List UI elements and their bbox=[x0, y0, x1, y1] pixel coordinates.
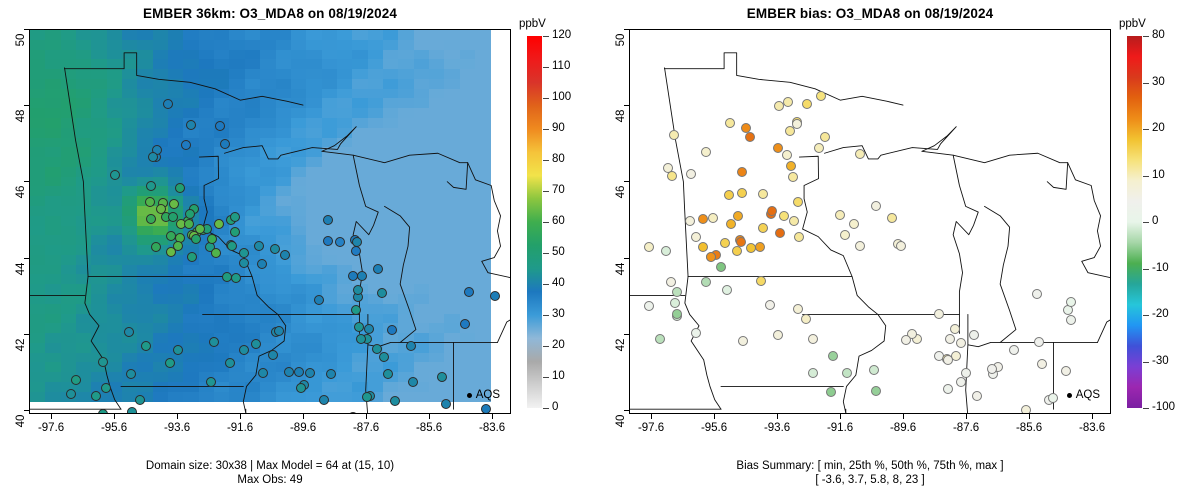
station-marker bbox=[441, 399, 451, 409]
station-marker bbox=[377, 288, 387, 298]
station-marker bbox=[326, 369, 336, 379]
station-marker bbox=[820, 132, 830, 142]
station-marker bbox=[230, 227, 240, 237]
station-marker bbox=[268, 350, 278, 360]
station-marker bbox=[296, 383, 306, 393]
bias-colorbar: ppbV -100-30-20-10010203080 bbox=[1127, 36, 1187, 408]
y-tick-label: 46 bbox=[15, 180, 27, 204]
colorbar-tick-label: 30 bbox=[552, 308, 565, 320]
station-marker bbox=[490, 291, 500, 301]
colorbar-tick-label: 80 bbox=[552, 153, 565, 165]
colorbar-tick-label: 10 bbox=[1152, 169, 1165, 181]
station-marker bbox=[169, 199, 179, 209]
station-marker bbox=[644, 301, 654, 311]
station-marker bbox=[239, 248, 249, 258]
y-tick-label: 48 bbox=[15, 104, 27, 128]
station-marker bbox=[209, 337, 219, 347]
station-marker bbox=[191, 234, 201, 244]
station-marker bbox=[323, 236, 333, 246]
station-marker bbox=[166, 231, 176, 241]
station-marker bbox=[802, 99, 812, 109]
bias-y-axis: 404244464850 bbox=[600, 29, 629, 414]
station-marker bbox=[672, 287, 682, 297]
bias-panel: EMBER bias: O3_MDA8 on 08/19/2024 AQS -9… bbox=[600, 0, 1200, 502]
station-marker bbox=[951, 351, 961, 361]
colorbar-tick-label: 70 bbox=[552, 184, 565, 196]
y-tick-label: 44 bbox=[15, 257, 27, 281]
y-tick-label: 42 bbox=[15, 333, 27, 357]
station-marker bbox=[163, 99, 173, 109]
colorbar-tick-label: 0 bbox=[552, 401, 558, 413]
colorbar-tick bbox=[1143, 269, 1149, 270]
colorbar-tick-label: 120 bbox=[552, 29, 571, 41]
colorbar-tick bbox=[543, 315, 549, 316]
station-marker bbox=[323, 215, 333, 225]
model-colorbar: ppbV 0102030405060708090100110120 bbox=[527, 36, 587, 408]
model-caption-line1: Domain size: 30x38 | Max Model = 64 at (… bbox=[0, 459, 540, 473]
y-tick-label: 50 bbox=[15, 28, 27, 52]
colorbar-tick bbox=[543, 98, 549, 99]
x-tick-label: -89.6 bbox=[277, 422, 329, 434]
model-x-axis: -97.6-95.6-93.6-91.6-89.6-87.6-85.6-83.6 bbox=[29, 414, 511, 444]
colorbar-tick-label: 40 bbox=[552, 277, 565, 289]
x-tick-label: -91.6 bbox=[214, 422, 266, 434]
station-marker bbox=[207, 234, 217, 244]
y-tick-label: 40 bbox=[15, 409, 27, 433]
station-marker bbox=[733, 211, 743, 221]
station-marker bbox=[666, 277, 676, 287]
station-marker bbox=[227, 241, 237, 251]
station-marker bbox=[736, 237, 746, 247]
x-tick-mark bbox=[1092, 414, 1093, 419]
station-marker bbox=[254, 241, 264, 251]
model-aqs-legend-label: AQS bbox=[476, 389, 500, 401]
station-marker bbox=[701, 277, 711, 287]
station-marker bbox=[71, 375, 81, 385]
station-marker bbox=[270, 244, 280, 254]
x-tick-label: -97.6 bbox=[625, 422, 677, 434]
station-marker bbox=[110, 170, 120, 180]
x-tick-label: -93.6 bbox=[751, 422, 803, 434]
station-marker bbox=[745, 132, 755, 142]
colorbar-tick-label: 30 bbox=[1152, 76, 1165, 88]
station-marker bbox=[148, 152, 158, 162]
x-tick-mark bbox=[840, 414, 841, 419]
station-marker bbox=[1021, 405, 1031, 414]
station-marker bbox=[215, 121, 225, 131]
station-marker bbox=[720, 238, 730, 248]
colorbar-tick bbox=[543, 36, 549, 37]
station-marker bbox=[767, 206, 777, 216]
x-tick-mark bbox=[903, 414, 904, 419]
y-tick-label: 50 bbox=[615, 28, 627, 52]
aqs-dot-icon bbox=[467, 393, 472, 398]
x-tick-label: -87.6 bbox=[940, 422, 992, 434]
station-marker bbox=[222, 272, 232, 282]
colorbar-tick bbox=[1143, 129, 1149, 130]
station-marker bbox=[387, 325, 397, 335]
x-tick-mark bbox=[366, 414, 367, 419]
station-marker bbox=[185, 209, 195, 219]
x-tick-label: -95.6 bbox=[88, 422, 140, 434]
station-marker bbox=[206, 377, 216, 387]
station-marker bbox=[691, 328, 701, 338]
y-tick-label: 44 bbox=[615, 257, 627, 281]
colorbar-tick bbox=[1143, 315, 1149, 316]
model-y-axis: 404244464850 bbox=[0, 29, 29, 414]
station-marker bbox=[257, 259, 267, 269]
model-panel-title: EMBER 36km: O3_MDA8 on 08/19/2024 bbox=[0, 6, 540, 21]
bias-plot-area: AQS bbox=[629, 29, 1111, 414]
x-tick-mark bbox=[966, 414, 967, 419]
station-marker bbox=[972, 391, 982, 401]
x-tick-mark bbox=[114, 414, 115, 419]
station-marker bbox=[722, 285, 732, 295]
x-tick-label: -83.6 bbox=[1066, 422, 1118, 434]
station-marker bbox=[737, 167, 747, 177]
station-marker bbox=[661, 246, 671, 256]
station-marker bbox=[887, 213, 897, 223]
colorbar-tick-label: 110 bbox=[552, 60, 570, 72]
station-marker bbox=[816, 91, 826, 101]
station-marker bbox=[698, 214, 708, 224]
model-colorbar-unit: ppbV bbox=[519, 18, 546, 30]
station-marker bbox=[66, 389, 76, 399]
station-marker bbox=[239, 258, 249, 268]
station-marker bbox=[793, 304, 803, 314]
x-tick-mark bbox=[492, 414, 493, 419]
colorbar-tick-label: 60 bbox=[552, 215, 565, 227]
station-marker bbox=[786, 161, 796, 171]
aqs-dot-icon bbox=[1067, 393, 1072, 398]
colorbar-tick bbox=[543, 377, 549, 378]
colorbar-tick bbox=[543, 284, 549, 285]
station-marker bbox=[481, 404, 491, 414]
bias-panel-title: EMBER bias: O3_MDA8 on 08/19/2024 bbox=[600, 6, 1140, 21]
x-tick-mark bbox=[651, 414, 652, 419]
station-marker bbox=[258, 368, 268, 378]
station-marker bbox=[701, 147, 711, 157]
station-marker bbox=[943, 384, 953, 394]
station-marker bbox=[808, 368, 818, 378]
station-marker bbox=[1032, 289, 1042, 299]
station-marker bbox=[775, 228, 785, 238]
colorbar-tick bbox=[543, 222, 549, 223]
colorbar-tick bbox=[1143, 83, 1149, 84]
station-marker bbox=[348, 271, 358, 281]
station-marker bbox=[98, 357, 108, 367]
colorbar-tick bbox=[1143, 362, 1149, 363]
station-marker bbox=[1037, 359, 1047, 369]
x-tick-mark bbox=[1029, 414, 1030, 419]
station-marker bbox=[691, 232, 701, 242]
station-marker bbox=[354, 322, 364, 332]
station-marker bbox=[305, 368, 315, 378]
station-marker bbox=[956, 377, 966, 387]
station-marker bbox=[706, 252, 716, 262]
colorbar-tick-label: 90 bbox=[552, 122, 565, 134]
x-tick-label: -95.6 bbox=[688, 422, 740, 434]
colorbar-tick bbox=[1143, 36, 1149, 37]
station-marker bbox=[186, 120, 196, 130]
station-marker bbox=[738, 336, 748, 346]
colorbar-tick-label: 10 bbox=[552, 370, 565, 382]
x-tick-mark bbox=[177, 414, 178, 419]
colorbar-tick-label: -20 bbox=[1152, 308, 1169, 320]
station-marker bbox=[274, 326, 284, 336]
x-tick-mark bbox=[429, 414, 430, 419]
station-marker bbox=[352, 237, 362, 247]
station-marker bbox=[1066, 315, 1076, 325]
station-marker bbox=[351, 305, 361, 315]
station-marker bbox=[655, 334, 665, 344]
y-tick-label: 48 bbox=[615, 104, 627, 128]
station-marker bbox=[956, 338, 966, 348]
station-marker bbox=[408, 377, 418, 387]
colorbar-tick-label: -30 bbox=[1152, 355, 1169, 367]
station-marker bbox=[792, 119, 802, 129]
colorbar-tick-label: -100 bbox=[1152, 401, 1175, 413]
colorbar-tick bbox=[543, 67, 549, 68]
colorbar-tick bbox=[543, 408, 549, 409]
station-marker bbox=[127, 407, 137, 414]
x-tick-mark bbox=[240, 414, 241, 419]
station-marker bbox=[788, 172, 798, 182]
model-colorbar-gradient bbox=[527, 36, 542, 408]
x-tick-label: -91.6 bbox=[814, 422, 866, 434]
station-marker bbox=[353, 285, 363, 295]
station-marker bbox=[357, 271, 367, 281]
x-tick-mark bbox=[714, 414, 715, 419]
station-marker bbox=[230, 212, 240, 222]
colorbar-tick-label: 20 bbox=[1152, 122, 1165, 134]
y-tick-label: 42 bbox=[615, 333, 627, 357]
bias-aqs-legend-label: AQS bbox=[1076, 389, 1100, 401]
station-marker bbox=[756, 276, 766, 286]
station-marker bbox=[934, 309, 944, 319]
station-marker bbox=[801, 314, 811, 324]
station-marker bbox=[855, 149, 865, 159]
station-marker bbox=[943, 355, 953, 365]
model-caption-line2: Max Obs: 49 bbox=[0, 473, 540, 487]
colorbar-tick-label: 80 bbox=[1152, 29, 1165, 41]
colorbar-tick-label: 50 bbox=[552, 246, 565, 258]
station-marker bbox=[362, 392, 372, 402]
colorbar-tick bbox=[543, 129, 549, 130]
station-marker bbox=[124, 327, 134, 337]
station-marker bbox=[672, 309, 682, 319]
colorbar-tick bbox=[1143, 222, 1149, 223]
station-marker bbox=[284, 367, 294, 377]
x-tick-mark bbox=[777, 414, 778, 419]
station-marker bbox=[251, 339, 261, 349]
bias-caption-line2: [ -3.6, 3.7, 5.8, 8, 23 ] bbox=[600, 473, 1140, 487]
colorbar-tick-label: 0 bbox=[1152, 215, 1158, 227]
x-tick-label: -85.6 bbox=[403, 422, 455, 434]
station-marker bbox=[356, 334, 366, 344]
station-marker bbox=[961, 368, 971, 378]
station-marker bbox=[685, 216, 695, 226]
x-tick-label: -83.6 bbox=[466, 422, 518, 434]
station-marker bbox=[166, 247, 176, 257]
model-aqs-legend: AQS bbox=[467, 389, 500, 401]
station-marker bbox=[782, 150, 792, 160]
station-marker bbox=[808, 334, 818, 344]
colorbar-tick bbox=[543, 346, 549, 347]
station-marker bbox=[184, 219, 194, 229]
station-marker bbox=[755, 242, 765, 252]
station-marker bbox=[828, 351, 838, 361]
colorbar-tick-label: 100 bbox=[552, 91, 571, 103]
station-marker bbox=[1066, 297, 1076, 307]
station-marker bbox=[464, 287, 474, 297]
y-tick-label: 40 bbox=[615, 409, 627, 433]
x-tick-label: -87.6 bbox=[340, 422, 392, 434]
x-tick-label: -93.6 bbox=[151, 422, 203, 434]
station-marker bbox=[460, 319, 470, 329]
bias-colorbar-gradient bbox=[1127, 36, 1142, 408]
station-marker bbox=[101, 383, 111, 393]
colorbar-tick-label: 20 bbox=[552, 339, 565, 351]
bias-caption-line1: Bias Summary: [ min, 25th %, 50th %, 75t… bbox=[600, 459, 1140, 473]
colorbar-tick bbox=[543, 253, 549, 254]
station-marker bbox=[314, 295, 324, 305]
station-marker bbox=[168, 212, 178, 222]
station-marker bbox=[724, 190, 734, 200]
bias-x-axis: -97.6-95.6-93.6-91.6-89.6-87.6-85.6-83.6 bbox=[629, 414, 1111, 444]
station-marker bbox=[789, 216, 799, 226]
station-marker bbox=[135, 395, 145, 405]
bias-colorbar-unit: ppbV bbox=[1119, 18, 1146, 30]
station-marker bbox=[987, 364, 997, 374]
x-tick-label: -85.6 bbox=[1003, 422, 1055, 434]
colorbar-tick bbox=[543, 160, 549, 161]
station-marker bbox=[871, 386, 881, 396]
station-marker bbox=[1034, 337, 1044, 347]
station-marker bbox=[225, 358, 235, 368]
station-marker bbox=[794, 232, 804, 242]
station-marker bbox=[945, 334, 955, 344]
x-tick-mark bbox=[303, 414, 304, 419]
bias-aqs-legend: AQS bbox=[1067, 389, 1100, 401]
station-marker bbox=[351, 246, 361, 256]
station-marker bbox=[969, 330, 979, 340]
colorbar-tick bbox=[1143, 408, 1149, 409]
model-panel: EMBER 36km: O3_MDA8 on 08/19/2024 AQS -9… bbox=[0, 0, 600, 502]
model-plot-area: AQS bbox=[29, 29, 511, 414]
x-tick-mark bbox=[51, 414, 52, 419]
station-marker bbox=[644, 242, 654, 252]
colorbar-tick bbox=[1143, 176, 1149, 177]
station-marker bbox=[126, 369, 136, 379]
station-marker bbox=[779, 211, 789, 221]
y-tick-label: 46 bbox=[615, 180, 627, 204]
x-tick-label: -89.6 bbox=[877, 422, 929, 434]
colorbar-tick bbox=[543, 191, 549, 192]
x-tick-label: -97.6 bbox=[25, 422, 77, 434]
colorbar-tick-label: -10 bbox=[1152, 262, 1169, 274]
